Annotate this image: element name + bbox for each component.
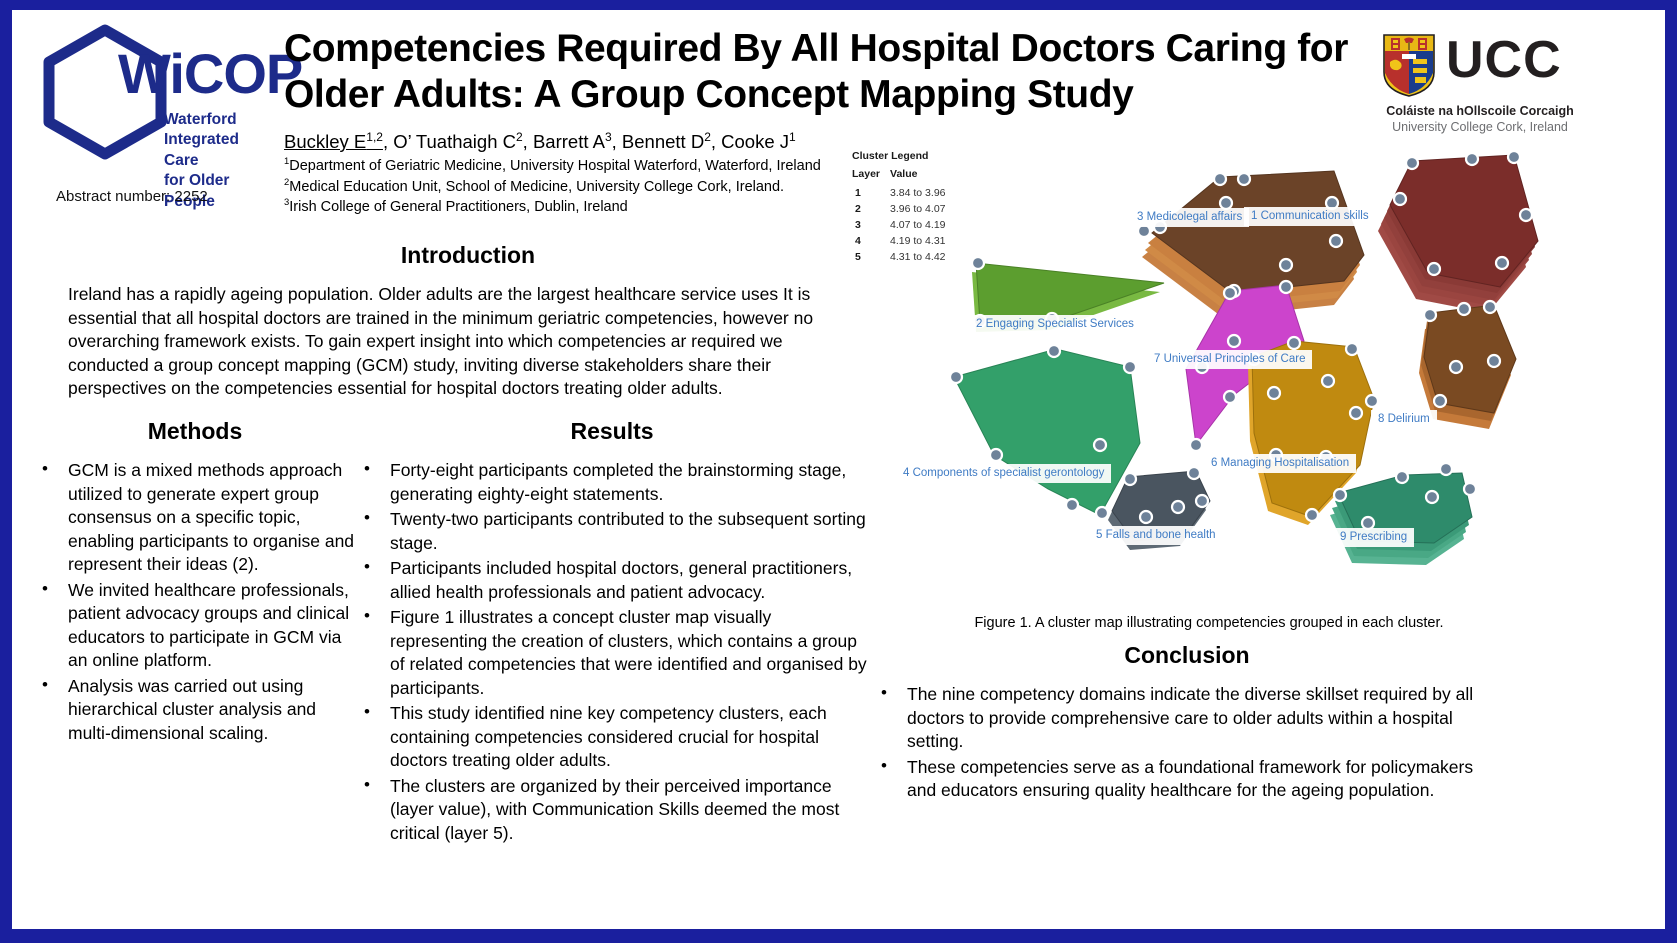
introduction-body: Ireland has a rapidly ageing population.… [68, 283, 868, 401]
wicop-tagline-line-1: Waterford [164, 110, 269, 130]
figure-1: Cluster Legend Layer Value 1 3.84 to 3.9… [844, 145, 1574, 600]
legend-layer: 1 [852, 185, 890, 201]
list-item: These competencies serve as a foundation… [867, 756, 1507, 803]
list-item: Participants included hospital doctors, … [352, 557, 872, 604]
coauthors: , O’ Tuathaigh C2, Barrett A3, Bennett D… [383, 131, 796, 152]
cluster-label-6: 6 Managing Hospitalisation [1204, 454, 1356, 473]
legend-col-layer: Layer [852, 168, 890, 185]
conclusion-bullet-list: The nine competency domains indicate the… [867, 683, 1507, 803]
results-section: Results Forty-eight participants complet… [352, 418, 872, 848]
legend-layer: 4 [852, 233, 890, 249]
list-item: The nine competency domains indicate the… [867, 683, 1507, 754]
cluster-label-4: 4 Components of specialist gerontology [896, 464, 1111, 483]
list-item: We invited healthcare professionals, pat… [30, 579, 360, 673]
ucc-logo: UCC Coláiste na hOllscoile Corcaigh Univ… [1380, 32, 1580, 142]
cluster-label-3: 3 Medicolegal affairs [1130, 208, 1249, 227]
abstract-number: Abstract number: 2252 [56, 188, 208, 205]
cluster-label-9: 9 Prescribing [1333, 528, 1414, 547]
lead-author: Buckley E1,2 [284, 131, 383, 152]
wicop-wordmark: WiCOP [118, 46, 302, 102]
legend-layer: 3 [852, 217, 890, 233]
methods-heading: Methods [30, 418, 360, 445]
list-item: Analysis was carried out using hierarchi… [30, 675, 360, 746]
ucc-irish-name: Coláiste na hOllscoile Corcaigh [1380, 104, 1580, 118]
methods-bullet-list: GCM is a mixed methods approach utilized… [30, 459, 360, 745]
introduction-heading: Introduction [68, 242, 868, 269]
cluster-label-2: 2 Engaging Specialist Services [969, 315, 1141, 334]
methods-section: Methods GCM is a mixed methods approach … [30, 418, 360, 747]
cluster-label-7: 7 Universal Principles of Care [1147, 350, 1312, 369]
cluster-shape-9 [1330, 473, 1472, 565]
cluster-shape-4 [954, 349, 1140, 515]
ucc-wordmark: UCC [1446, 32, 1562, 89]
conclusion-section: Conclusion The nine competency domains i… [867, 642, 1507, 805]
cluster-label-8: 8 Delirium [1371, 410, 1437, 429]
wicop-tagline-line-2: Integrated Care [164, 130, 269, 171]
cluster-label-1: 1 Communication skills [1244, 207, 1376, 226]
lead-author-affiliation-marker: 1,2 [366, 130, 383, 144]
list-item: The clusters are organized by their perc… [352, 775, 872, 846]
introduction-section: Introduction Ireland has a rapidly agein… [68, 242, 868, 401]
conclusion-heading: Conclusion [867, 642, 1507, 669]
list-item: This study identified nine key competenc… [352, 702, 872, 773]
list-item: Twenty-two participants contributed to t… [352, 508, 872, 555]
cluster-shape-1 [1378, 155, 1538, 313]
list-item: Forty-eight participants completed the b… [352, 459, 872, 506]
list-item: Figure 1 illustrates a concept cluster m… [352, 606, 872, 700]
ucc-crest-icon [1380, 32, 1438, 98]
poster-border: WiCOP Waterford Integrated Care for Olde… [0, 0, 1677, 943]
poster-page: WiCOP Waterford Integrated Care for Olde… [12, 10, 1665, 929]
list-item: GCM is a mixed methods approach utilized… [30, 459, 360, 577]
wicop-logo: WiCOP Waterford Integrated Care for Olde… [34, 18, 269, 178]
ucc-english-name: University College Cork, Ireland [1380, 120, 1580, 134]
results-heading: Results [352, 418, 872, 445]
figure-caption: Figure 1. A cluster map illustrating com… [844, 615, 1574, 631]
results-bullet-list: Forty-eight participants completed the b… [352, 459, 872, 846]
legend-layer: 5 [852, 249, 890, 265]
cluster-label-5: 5 Falls and bone health [1089, 526, 1223, 545]
legend-layer: 2 [852, 201, 890, 217]
page-title: Competencies Required By All Hospital Do… [284, 26, 1364, 118]
